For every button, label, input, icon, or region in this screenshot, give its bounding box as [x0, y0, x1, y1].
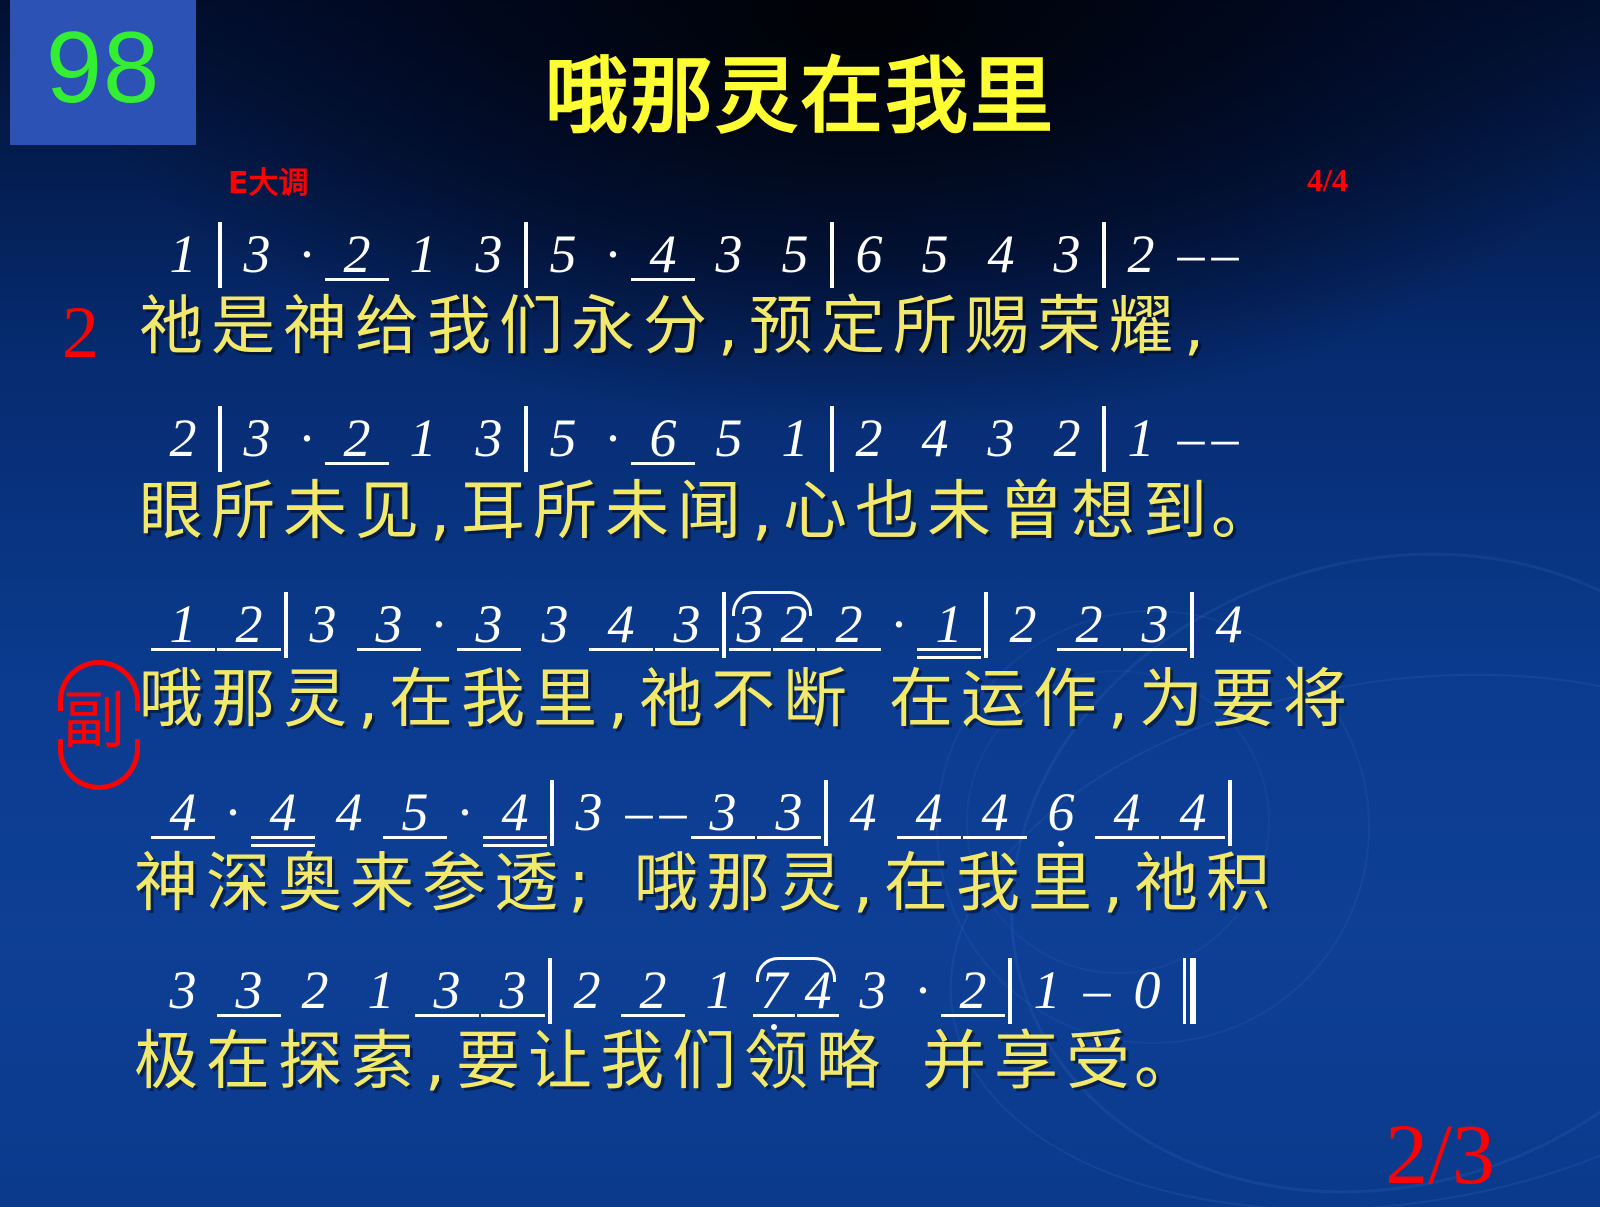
barline — [830, 406, 834, 472]
slur-group: 74 — [752, 959, 840, 1021]
lyric-punctuation: , — [846, 852, 880, 916]
lyric-char: 定 — [817, 295, 889, 359]
lyric-char: 为 — [1135, 668, 1207, 732]
lyric-char: 极 — [130, 1030, 202, 1094]
note-2: 2 — [836, 407, 902, 469]
note-4: 4 — [588, 593, 654, 655]
lyric-punctuation: , — [423, 480, 457, 544]
note-2: 2 — [150, 407, 216, 469]
lyric-char: 也 — [851, 480, 923, 544]
note-3: 3 — [480, 959, 546, 1021]
lyric-char: 分 — [639, 295, 711, 359]
note-2: 2 — [324, 407, 390, 469]
lyric-char: 未 — [279, 480, 351, 544]
note-3: 3 — [290, 593, 356, 655]
lyric-char: 是 — [207, 295, 279, 359]
note-1: 1 — [390, 407, 456, 469]
note-1: 1 — [1014, 959, 1080, 1021]
page-title: 哦那灵在我里 — [0, 55, 1600, 138]
lyric-char: 来 — [346, 852, 418, 916]
lyric-char: 里 — [1024, 852, 1096, 916]
note-2: 2 — [1108, 223, 1174, 285]
note-3: 3 — [456, 407, 522, 469]
lyric-char: 运 — [957, 668, 1029, 732]
barline — [824, 780, 828, 846]
lyric-punctuation: , — [1101, 668, 1135, 732]
lyric-char: 断 — [779, 668, 851, 732]
note-3: 3 — [654, 593, 720, 655]
music-system: 332133221743·21–0 — [150, 958, 1600, 1030]
lyric-line: 极在探索,要让我们领略 并享受。 — [130, 1030, 1600, 1094]
lyric-char: 们 — [668, 1030, 740, 1094]
duration-dash: – — [1208, 223, 1242, 285]
chorus-line-3-notes: 332133221743·21–0 — [150, 958, 1600, 1030]
music-system: 1233·3343322·12234 — [150, 592, 1600, 664]
note-1: 1 — [762, 407, 828, 469]
lyric-punctuation: 。 — [1134, 1030, 1168, 1094]
note-7: 7 — [752, 959, 796, 1021]
note-2: 2 — [772, 593, 816, 655]
note-2: 2 — [554, 959, 620, 1021]
lyric-line: 眼所未见,耳所未闻,心也未曾想到。 — [135, 480, 1600, 544]
lyric-char: 深 — [202, 852, 274, 916]
lyric-char: 哦 — [135, 668, 207, 732]
lyric-char: 受 — [1062, 1030, 1134, 1094]
note-5: 5 — [382, 781, 448, 843]
note-5: 5 — [696, 407, 762, 469]
note-5: 5 — [762, 223, 828, 285]
lyric-char: 所 — [207, 480, 279, 544]
dotted-duration-mark: · — [422, 593, 456, 655]
hymn-slide: 98 哦那灵在我里 E大调 4/4 2 副 13·2135·43565432––… — [0, 0, 1600, 1207]
lyric-char: 我 — [457, 668, 529, 732]
note-1: 1 — [150, 593, 216, 655]
note-4: 4 — [482, 781, 548, 843]
lyric-char: 赐 — [961, 295, 1033, 359]
lyric-char: 在 — [880, 852, 952, 916]
lyric-char: 让 — [524, 1030, 596, 1094]
verse-line-1-notes: 13·2135·43565432–– — [150, 222, 1600, 294]
lyric-char: 我 — [423, 295, 495, 359]
lyric-char: 闻 — [673, 480, 745, 544]
duration-dash: – — [1174, 407, 1208, 469]
lyric-char: 领 — [740, 1030, 812, 1094]
lyric-char: 灵 — [279, 668, 351, 732]
time-signature-label: 4/4 — [1307, 162, 1348, 199]
barline — [722, 592, 726, 658]
note-4: 4 — [1196, 593, 1262, 655]
dotted-duration-mark: · — [882, 593, 916, 655]
barline — [218, 406, 222, 472]
lyric-char: 要 — [1207, 668, 1279, 732]
note-4: 4 — [796, 959, 840, 1021]
lyric-char: 要 — [452, 1030, 524, 1094]
lyric-char: 祂 — [1130, 852, 1202, 916]
lyric-char: 曾 — [995, 480, 1067, 544]
note-3: 3 — [224, 407, 290, 469]
chorus-label: 副 — [52, 690, 136, 752]
note-2: 2 — [816, 593, 882, 655]
note-3: 3 — [224, 223, 290, 285]
barline — [284, 592, 288, 658]
barline — [524, 222, 528, 288]
chorus-line-2-notes: 4·445·43––33444644 — [150, 780, 1600, 852]
lyric-system: 哦那灵,在我里,祂不断 在运作,为要将 — [135, 668, 1600, 732]
lyric-char: 奥 — [274, 852, 346, 916]
lyric-punctuation: , — [418, 1030, 452, 1094]
chorus-marker: 副 — [52, 660, 136, 790]
music-system: 23·2135·65124321–– — [150, 406, 1600, 478]
duration-dash: – — [1080, 959, 1114, 1021]
duration-dash: – — [622, 781, 656, 843]
note-3: 3 — [150, 959, 216, 1021]
lyric-line: 神深奥来参透; 哦那灵,在我里,祂积 — [130, 852, 1600, 916]
lyric-line: 祂是神给我们永分,预定所赐荣耀, — [135, 295, 1600, 359]
lyric-punctuation: ; — [562, 852, 596, 916]
page-indicator: 2/3 — [1385, 1111, 1495, 1197]
note-5: 5 — [530, 223, 596, 285]
lyric-char: 未 — [923, 480, 995, 544]
final-barline — [1183, 958, 1196, 1024]
note-4: 4 — [250, 781, 316, 843]
lyric-punctuation: , — [1177, 295, 1211, 359]
lyric-char: 未 — [601, 480, 673, 544]
note-6: 6 — [836, 223, 902, 285]
lyric-char: 所 — [889, 295, 961, 359]
note-2: 2 — [282, 959, 348, 1021]
note-2: 2 — [324, 223, 390, 285]
note-3: 3 — [696, 223, 762, 285]
dotted-duration-mark: · — [216, 781, 250, 843]
lyric-char: 里 — [529, 668, 601, 732]
dotted-duration-mark: · — [290, 407, 324, 469]
verse-line-2-notes: 23·2135·65124321–– — [150, 406, 1600, 478]
note-2: 2 — [216, 593, 282, 655]
note-3: 3 — [690, 781, 756, 843]
note-1: 1 — [348, 959, 414, 1021]
note-3: 3 — [414, 959, 480, 1021]
note-1: 1 — [686, 959, 752, 1021]
lyric-char: 在 — [202, 1030, 274, 1094]
lyric-char: 们 — [495, 295, 567, 359]
lyric-char: 那 — [702, 852, 774, 916]
barline — [1102, 222, 1106, 288]
lyric-char: 那 — [207, 668, 279, 732]
note-3: 3 — [522, 593, 588, 655]
lyric-char: 并 — [918, 1030, 990, 1094]
chorus-line-1-notes: 1233·3343322·12234 — [150, 592, 1600, 664]
lyric-punctuation: , — [1096, 852, 1130, 916]
lyric-char: 不 — [707, 668, 779, 732]
note-4: 4 — [630, 223, 696, 285]
note-3: 3 — [968, 407, 1034, 469]
lyric-char: 享 — [990, 1030, 1062, 1094]
note-1: 1 — [390, 223, 456, 285]
note-5: 5 — [902, 223, 968, 285]
lyric-system: 极在探索,要让我们领略 并享受。 — [130, 1030, 1600, 1094]
lyric-punctuation: , — [711, 295, 745, 359]
lyric-char: 祂 — [635, 668, 707, 732]
lyric-char: 索 — [346, 1030, 418, 1094]
lyric-system: 眼所未见,耳所未闻,心也未曾想到。 — [135, 480, 1600, 544]
lyric-char: 到 — [1139, 480, 1211, 544]
note-4: 4 — [830, 781, 896, 843]
lyric-char: 所 — [529, 480, 601, 544]
lyric-punctuation: , — [601, 668, 635, 732]
key-signature-label: E大调 — [228, 158, 309, 202]
music-system: 13·2135·43565432–– — [150, 222, 1600, 294]
lyric-char: 永 — [567, 295, 639, 359]
lyric-system: 神深奥来参透; 哦那灵,在我里,祂积 — [130, 852, 1600, 916]
lyric-char: 荣 — [1033, 295, 1105, 359]
lyric-char: 神 — [279, 295, 351, 359]
barline — [1102, 406, 1106, 472]
barline — [830, 222, 834, 288]
lyric-char: 在 — [385, 668, 457, 732]
lyric-system: 祂是神给我们永分,预定所赐荣耀, — [135, 295, 1600, 359]
lyric-char: 耀 — [1105, 295, 1177, 359]
note-3: 3 — [356, 593, 422, 655]
barline — [984, 592, 988, 658]
note-2: 2 — [1034, 407, 1100, 469]
note-3: 3 — [556, 781, 622, 843]
lyric-char: 将 — [1279, 668, 1351, 732]
dotted-duration-mark: · — [596, 407, 630, 469]
note-3: 3 — [456, 223, 522, 285]
barline — [218, 222, 222, 288]
lyric-punctuation: , — [745, 480, 779, 544]
dotted-duration-mark: · — [448, 781, 482, 843]
lyric-punctuation: , — [351, 668, 385, 732]
note-1: 1 — [1108, 407, 1174, 469]
lyric-char: 见 — [351, 480, 423, 544]
note-4: 4 — [1160, 781, 1226, 843]
lyric-char: 作 — [1029, 668, 1101, 732]
note-4: 4 — [150, 781, 216, 843]
duration-dash: – — [656, 781, 690, 843]
barline — [1008, 958, 1012, 1024]
note-2: 2 — [620, 959, 686, 1021]
barline — [548, 958, 552, 1024]
note-4: 4 — [316, 781, 382, 843]
lyric-char: 祂 — [135, 295, 207, 359]
lyric-char: 探 — [274, 1030, 346, 1094]
lyric-char: 透 — [490, 852, 562, 916]
duration-dash: – — [1208, 407, 1242, 469]
slur-group: 32 — [728, 593, 816, 655]
lyric-line: 哦那灵,在我里,祂不断 在运作,为要将 — [135, 668, 1600, 732]
lyric-char: 神 — [130, 852, 202, 916]
lyric-char: 眼 — [135, 480, 207, 544]
barline — [1228, 780, 1232, 846]
note-2: 2 — [990, 593, 1056, 655]
note-4: 4 — [962, 781, 1028, 843]
lyric-char: 参 — [418, 852, 490, 916]
lyric-punctuation: 。 — [1211, 480, 1245, 544]
note-3: 3 — [840, 959, 906, 1021]
note-4: 4 — [902, 407, 968, 469]
lyric-char: 哦 — [630, 852, 702, 916]
barline — [524, 406, 528, 472]
note-0: 0 — [1114, 959, 1180, 1021]
note-3: 3 — [1034, 223, 1100, 285]
lyric-char: 给 — [351, 295, 423, 359]
note-1: 1 — [916, 593, 982, 655]
note-3: 3 — [756, 781, 822, 843]
note-2: 2 — [1056, 593, 1122, 655]
music-system: 4·445·43––33444644 — [150, 780, 1600, 852]
note-3: 3 — [216, 959, 282, 1021]
verse-number: 2 — [62, 296, 99, 370]
lyric-char: 积 — [1202, 852, 1274, 916]
note-4: 4 — [896, 781, 962, 843]
lyric-char: 预 — [745, 295, 817, 359]
lyric-char: 我 — [952, 852, 1024, 916]
lyric-char: 在 — [885, 668, 957, 732]
duration-dash: – — [1174, 223, 1208, 285]
note-2: 2 — [940, 959, 1006, 1021]
lyric-char: 想 — [1067, 480, 1139, 544]
lyric-char: 略 — [812, 1030, 884, 1094]
barline — [550, 780, 554, 846]
note-3: 3 — [728, 593, 772, 655]
note-5: 5 — [530, 407, 596, 469]
lyric-char: 灵 — [774, 852, 846, 916]
note-4: 4 — [1094, 781, 1160, 843]
note-3: 3 — [456, 593, 522, 655]
lyric-char: 心 — [779, 480, 851, 544]
lyric-char: 我 — [596, 1030, 668, 1094]
dotted-duration-mark: · — [906, 959, 940, 1021]
lyric-char: 耳 — [457, 480, 529, 544]
barline — [1190, 592, 1194, 658]
note-6: 6 — [630, 407, 696, 469]
dotted-duration-mark: · — [290, 223, 324, 285]
note-1: 1 — [150, 223, 216, 285]
note-6: 6 — [1028, 781, 1094, 843]
note-4: 4 — [968, 223, 1034, 285]
note-3: 3 — [1122, 593, 1188, 655]
dotted-duration-mark: · — [596, 223, 630, 285]
